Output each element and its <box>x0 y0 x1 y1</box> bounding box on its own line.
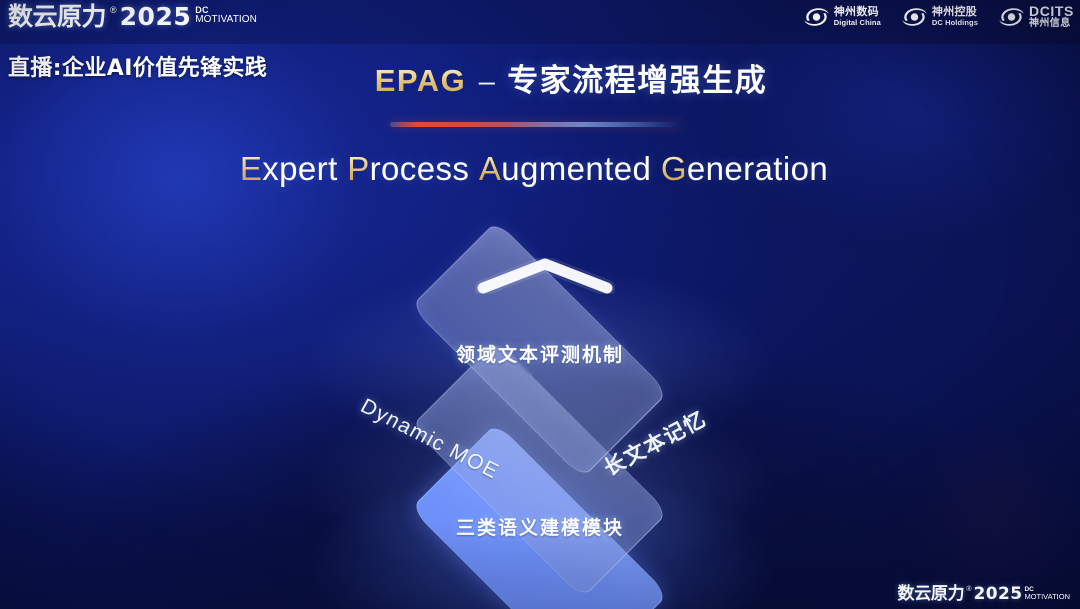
watermark-registered-mark: ® <box>966 585 971 594</box>
brand-logo-year: 2025 <box>120 4 192 30</box>
partner-name-en: DC Holdings <box>932 19 978 27</box>
partner-logo-dc-holdings: 神州控股 DC Holdings <box>901 5 978 29</box>
subtitle-word-expert: xpert <box>262 150 337 187</box>
partner-logo-group: 神州数码 Digital China 神州控股 DC Holdings <box>803 4 1074 29</box>
subtitle-initial-e: E <box>240 150 262 187</box>
subtitle-initial-p: P <box>347 150 369 187</box>
watermark-cn: 数云原力 <box>898 585 965 603</box>
partner-name-cn: 神州数码 <box>834 6 881 17</box>
watermark-dc-motivation: DC MOTIVATION <box>1024 586 1070 600</box>
watermark-motivation: MOTIVATION <box>1024 593 1070 600</box>
partner-name-cn: 神州信息 <box>1029 19 1074 29</box>
page-title-acronym: EPAG <box>375 63 467 98</box>
swoosh-icon <box>998 5 1025 29</box>
layered-architecture-diagram: 领域文本评测机制 Dynamic MOE 长文本记忆 三类语义建模模块 <box>290 218 790 588</box>
brand-logo-dc-motivation: DC MOTIVATION <box>195 6 257 24</box>
partner-logo-dcits: DCITS 神州信息 <box>998 4 1074 29</box>
layer-top-label: 领域文本评测机制 <box>290 340 790 367</box>
background-corner-shade <box>740 300 1080 609</box>
watermark-logo: 数云原力 ® 2025 DC MOTIVATION <box>898 585 1070 603</box>
subtitle-word-generation: eneration <box>687 150 828 187</box>
page-title: EPAG – 专家流程增强生成 <box>0 55 1080 100</box>
partner-logo-digital-china: 神州数码 Digital China <box>803 5 881 29</box>
watermark-year: 2025 <box>974 585 1023 603</box>
subtitle-word-process: rocess <box>370 150 470 187</box>
page-title-chinese: 专家流程增强生成 <box>507 63 767 99</box>
swoosh-icon <box>901 5 928 29</box>
brand-logo-cn: 数云原力 <box>8 4 106 30</box>
layer-bottom-label: 三类语义建模模块 <box>290 513 790 540</box>
brand-logo: 数云原力 ® 2025 DC MOTIVATION <box>8 4 257 30</box>
partner-name-en: Digital China <box>834 19 881 27</box>
partner-logo-text: 神州控股 DC Holdings <box>932 6 978 27</box>
title-divider <box>390 122 682 127</box>
page-title-dash: – <box>471 66 503 98</box>
brand-logo-motivation: MOTIVATION <box>195 15 257 24</box>
partner-name-cn: 神州控股 <box>932 6 978 17</box>
brand-logo-registered-mark: ® <box>110 4 117 16</box>
swoosh-icon <box>803 5 830 29</box>
partner-name-en: DCITS <box>1029 4 1074 18</box>
partner-logo-text: DCITS 神州信息 <box>1029 4 1074 29</box>
slide-canvas: 数云原力 ® 2025 DC MOTIVATION 直播:企业AI价值先锋实践 <box>0 0 1080 609</box>
subtitle-word-augmented: ugmented <box>501 150 651 187</box>
subtitle-initial-g: G <box>661 150 687 187</box>
partner-logo-text: 神州数码 Digital China <box>834 6 881 27</box>
page-subtitle: Expert Process Augmented Generation <box>0 150 1080 188</box>
subtitle-initial-a: A <box>479 150 501 187</box>
